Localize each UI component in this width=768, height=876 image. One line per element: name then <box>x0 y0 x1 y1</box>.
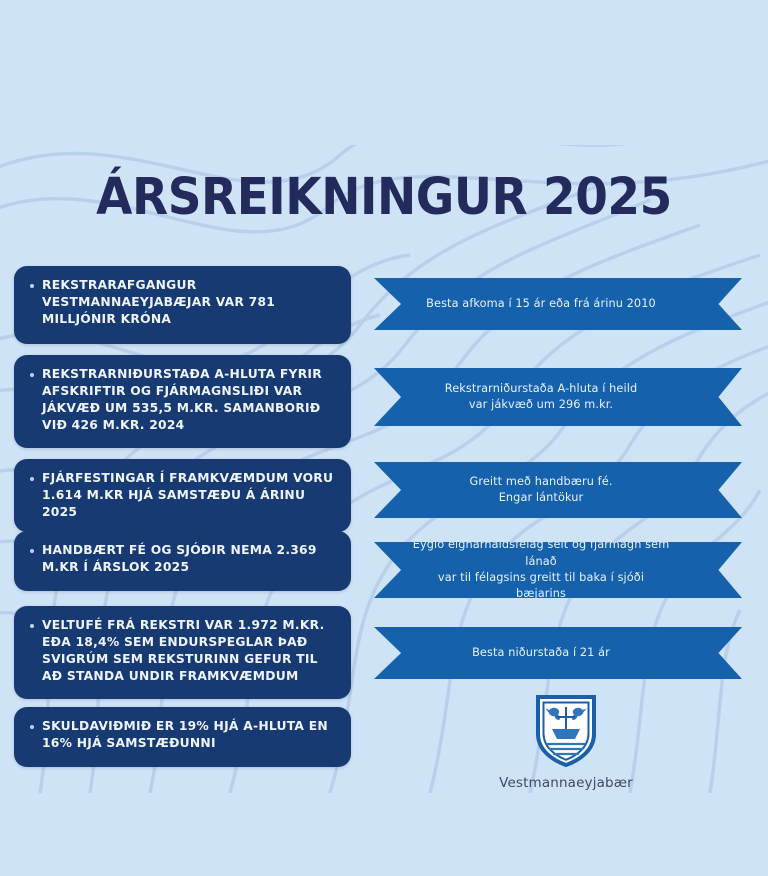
logo-caption: Vestmannaeyjabær <box>446 775 686 791</box>
bullet-card: HANDBÆRT FÉ OG SJÓÐIR NEMA 2.369 M.KR Í … <box>14 531 351 591</box>
bullet-dot-icon <box>30 549 34 553</box>
arrow-banner-text: Greitt með handbæru fé. Engar lántökur <box>469 474 612 507</box>
arrow-banner: Besta niðurstaða í 21 ár <box>374 627 704 679</box>
bullet-card-text: HANDBÆRT FÉ OG SJÓÐIR NEMA 2.369 M.KR Í … <box>42 542 337 576</box>
bullet-card: REKSTRARAFGANGUR VESTMANNAEYJABÆJAR VAR … <box>14 266 351 344</box>
arrow-banner-text: Rekstrarniðurstaða A-hluta í heild var j… <box>445 381 637 414</box>
bullet-card: REKSTRARNIÐURSTAÐA A-HLUTA FYRIR AFSKRIF… <box>14 355 351 448</box>
arrow-banner: Eygló eignarhaldsfélag selt og fjármagn … <box>374 542 704 598</box>
arrow-banner-text: Eygló eignarhaldsfélag selt og fjármagn … <box>412 537 670 603</box>
bullet-card-text: REKSTRARAFGANGUR VESTMANNAEYJABÆJAR VAR … <box>42 277 337 328</box>
bullet-dot-icon <box>30 624 34 628</box>
bullet-dot-icon <box>30 373 34 377</box>
bullet-dot-icon <box>30 284 34 288</box>
bullet-card-text: FJÁRFESTINGAR Í FRAMKVÆMDUM VORU 1.614 M… <box>42 470 337 521</box>
bullet-card: FJÁRFESTINGAR Í FRAMKVÆMDUM VORU 1.614 M… <box>14 459 351 532</box>
infographic-canvas: ÁRSREIKNINGUR 2025 REKSTRARAFGANGUR VEST… <box>0 0 768 876</box>
arrow-banner-text: Besta niðurstaða í 21 ár <box>472 645 610 661</box>
bullet-dot-icon <box>30 477 34 481</box>
bullet-card-text: REKSTRARNIÐURSTAÐA A-HLUTA FYRIR AFSKRIF… <box>42 366 337 434</box>
bullet-card: VELTUFÉ FRÁ REKSTRI VAR 1.972 M.KR. EÐA … <box>14 606 351 699</box>
logo-block: Vestmannaeyjabær <box>446 694 686 791</box>
bullet-dot-icon <box>30 725 34 729</box>
arrow-banner-text: Besta afkoma í 15 ár eða frá árinu 2010 <box>426 296 656 312</box>
arrow-banner: Besta afkoma í 15 ár eða frá árinu 2010 <box>374 278 704 330</box>
bullet-card-text: VELTUFÉ FRÁ REKSTRI VAR 1.972 M.KR. EÐA … <box>42 617 337 685</box>
page-title: ÁRSREIKNINGUR 2025 <box>31 168 738 227</box>
bullet-card-text: SKULDAVIÐMIÐ ER 19% HJÁ A-HLUTA EN 16% H… <box>42 718 337 752</box>
coat-of-arms-shield-icon <box>535 694 597 768</box>
bullet-card: SKULDAVIÐMIÐ ER 19% HJÁ A-HLUTA EN 16% H… <box>14 707 351 767</box>
arrow-banner: Rekstrarniðurstaða A-hluta í heild var j… <box>374 368 704 426</box>
arrow-banner: Greitt með handbæru fé. Engar lántökur <box>374 462 704 518</box>
